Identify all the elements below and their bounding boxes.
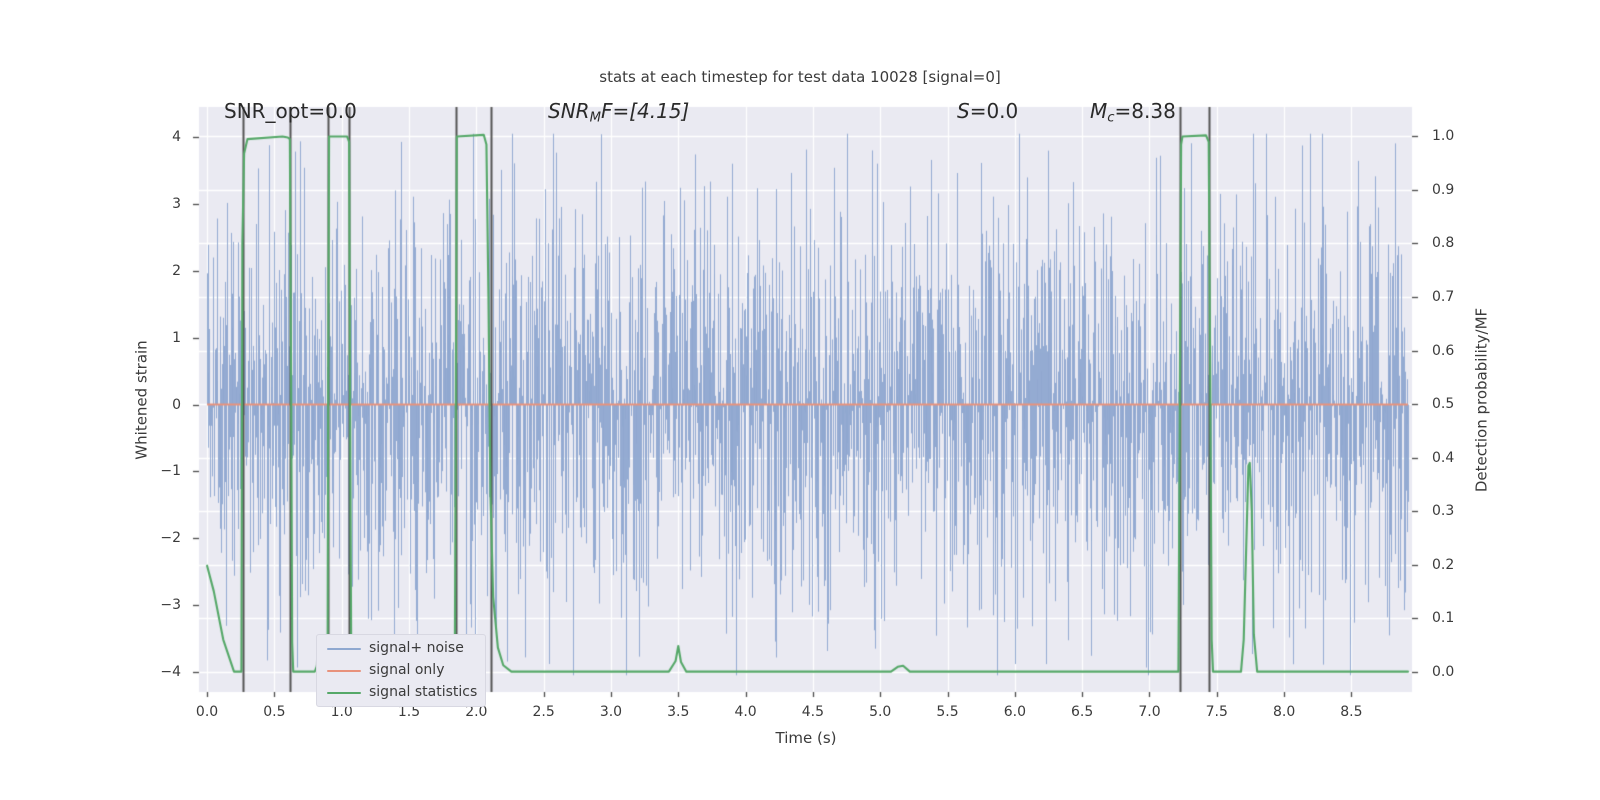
x-tick-label: 7.5 [1206,704,1228,720]
legend-swatch-signal-only [327,670,361,672]
x-tick-label: 2.5 [533,704,555,720]
x-tick-label: 5.0 [869,704,891,720]
x-tick-label: 7.0 [1138,704,1160,720]
legend-item: signal statistics [317,681,485,705]
x-tick-label: 3.5 [667,704,689,720]
chart-legend: signal+ noise signal only signal statist… [316,634,486,707]
legend-item: signal+ noise [317,637,485,661]
x-tick-label: 8.0 [1273,704,1295,720]
legend-item: signal only [317,659,485,683]
legend-swatch-signal-statistics [327,692,361,694]
x-tick-label: 4.0 [734,704,756,720]
x-tick-label: 6.5 [1071,704,1093,720]
legend-label-signal-only: signal only [369,662,444,678]
figure-root: stats at each timestep for test data 100… [0,0,1600,800]
legend-label-signal-statistics: signal statistics [369,684,477,700]
legend-label-signal-noise: signal+ noise [369,640,464,656]
x-tick-label: 0.0 [196,704,218,720]
x-axis-tick-labels: 0.00.51.01.52.02.53.03.54.04.55.05.56.06… [0,0,1600,800]
x-tick-label: 6.0 [1004,704,1026,720]
x-tick-label: 8.5 [1340,704,1362,720]
x-tick-label: 3.0 [600,704,622,720]
x-tick-label: 5.5 [936,704,958,720]
x-tick-label: 0.5 [263,704,285,720]
x-tick-label: 4.5 [802,704,824,720]
legend-swatch-signal-noise [327,648,361,650]
